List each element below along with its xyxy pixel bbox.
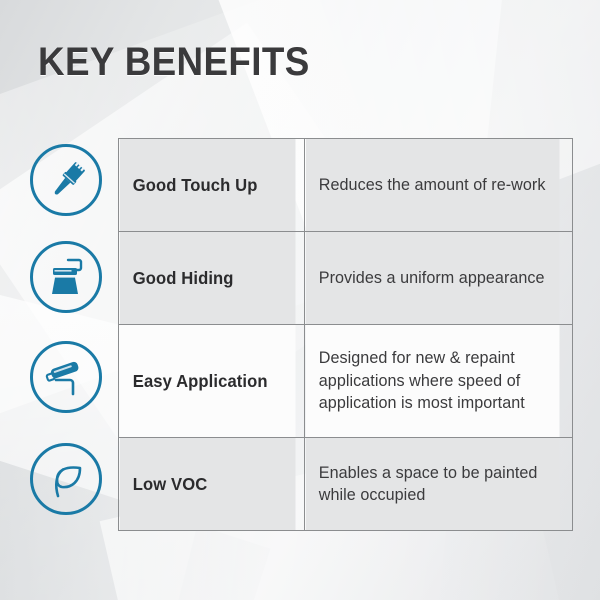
- benefit-name: Good Touch Up: [119, 139, 296, 232]
- benefit-name: Good Hiding: [119, 232, 296, 325]
- benefit-description: Designed for new & repaint applications …: [305, 325, 560, 438]
- key-benefits-table: Good Touch Up Reduces the amount of re-w…: [118, 138, 573, 531]
- benefit-name: Easy Application: [119, 325, 296, 438]
- benefit-description: Provides a uniform appearance: [305, 232, 560, 325]
- benefit-name: Low VOC: [119, 438, 296, 531]
- table-row: Low VOC Enables a space to be painted wh…: [119, 438, 573, 531]
- table-row: Good Touch Up Reduces the amount of re-w…: [119, 139, 573, 232]
- paint-roller-front-icon: [30, 241, 102, 313]
- table-row: Good Hiding Provides a uniform appearanc…: [119, 232, 573, 325]
- benefit-description: Reduces the amount of re-work: [305, 139, 560, 232]
- key-benefits-infographic: KEY BENEFITS: [0, 0, 600, 600]
- paint-roller-side-icon: [30, 341, 102, 413]
- paint-brush-icon: [30, 144, 102, 216]
- table-row: Easy Application Designed for new & repa…: [119, 325, 573, 438]
- benefit-description: Enables a space to be painted while occu…: [305, 438, 560, 531]
- page-title: KEY BENEFITS: [38, 40, 310, 85]
- benefit-icon-rail: [30, 138, 104, 528]
- leaf-icon: [30, 443, 102, 515]
